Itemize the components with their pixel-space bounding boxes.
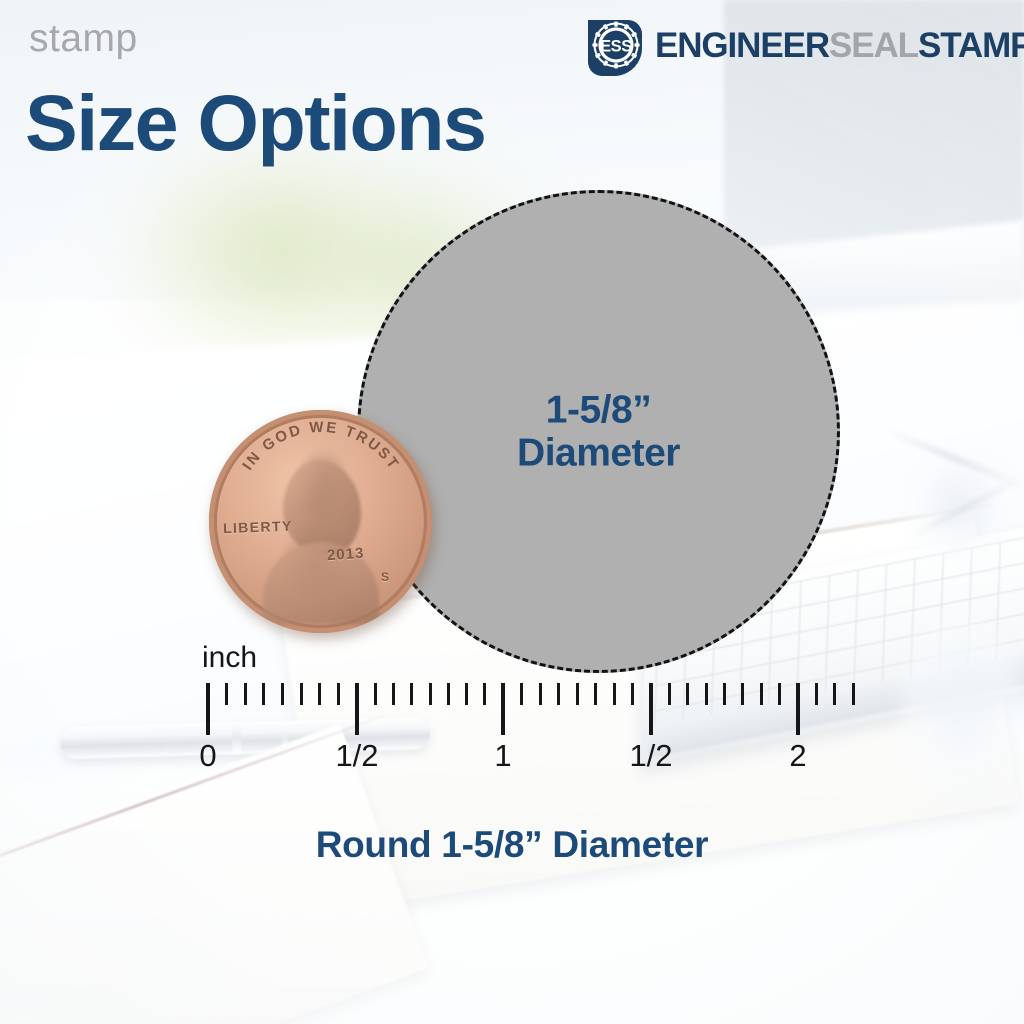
logo-word-engineer: ENGINEER xyxy=(655,28,829,63)
stamp-size-label: 1-5/8” Diameter xyxy=(360,388,837,475)
penny-year-text: 2013 xyxy=(326,545,364,565)
stamp-size-circle: 1-5/8” Diameter xyxy=(357,190,840,673)
logo-word-seal: SEAL xyxy=(829,28,918,63)
gear-shield-icon: ESS xyxy=(584,14,646,76)
brand-wordmark: ENGINEER SEAL STAMPS .COM xyxy=(655,28,1024,63)
stamp-size-unit: Diameter xyxy=(360,432,837,476)
kicker-label: stamp xyxy=(29,19,138,58)
reference-penny: IN GOD WE TRUST LIBERTY 2013 S xyxy=(209,410,432,633)
figure-caption: Round 1-5/8” Diameter xyxy=(0,824,1024,866)
ess-badge-text: ESS xyxy=(600,37,632,55)
stamp-size-value: 1-5/8” xyxy=(546,388,651,431)
penny-liberty-text: LIBERTY xyxy=(223,518,293,536)
logo-word-stamps: STAMPS xyxy=(918,28,1024,63)
ess-badge: ESS xyxy=(584,14,646,76)
brand-logo[interactable]: ESS ENGINEER SEAL STAMPS .COM xyxy=(584,14,1016,76)
stamp-size-options-infographic: stamp Size Options xyxy=(0,0,1024,1024)
penny-mint-mark: S xyxy=(381,570,389,584)
page-title: Size Options xyxy=(25,83,485,162)
